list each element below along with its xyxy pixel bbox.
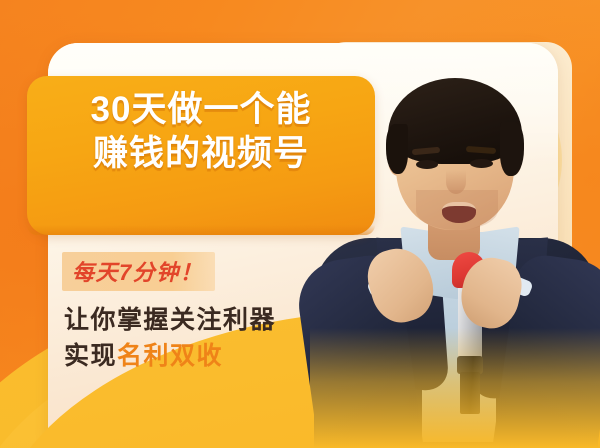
subheadline-text: 每天7分钟！ — [72, 260, 203, 285]
eye-left — [416, 160, 438, 169]
nose — [446, 170, 466, 194]
body-copy-line-2-prefix: 实现 — [64, 342, 117, 370]
mouth — [442, 202, 476, 223]
body-copy: 让你掌握关注利器 实现名利双收 — [64, 302, 276, 374]
eye-right — [470, 159, 493, 168]
hair-sideburn-right — [500, 122, 524, 176]
headline-line-2: 赚钱的视频号 — [27, 132, 375, 176]
subheadline-highlight-band: 每天7分钟！ — [62, 252, 215, 291]
body-copy-line-2-accent: 名利双收 — [117, 342, 223, 370]
subheadline-wrapper: 每天7分钟！ — [62, 252, 215, 291]
headline-text-group: 30天做一个能 赚钱的视频号 — [27, 88, 375, 176]
headline-plaque: 30天做一个能 赚钱的视频号 — [27, 76, 375, 235]
plaque-bottom-edge — [27, 225, 375, 235]
promo-poster: 30天做一个能 赚钱的视频号 每天7分钟！ 让你掌握关注利器 实现名利双收 — [0, 0, 600, 448]
speaker-bottom-fade — [310, 328, 600, 448]
body-copy-line-2: 实现名利双收 — [64, 338, 276, 374]
hair-sideburn-left — [386, 124, 408, 174]
headline-line-1: 30天做一个能 — [27, 88, 375, 132]
body-copy-line-1: 让你掌握关注利器 — [64, 302, 276, 338]
